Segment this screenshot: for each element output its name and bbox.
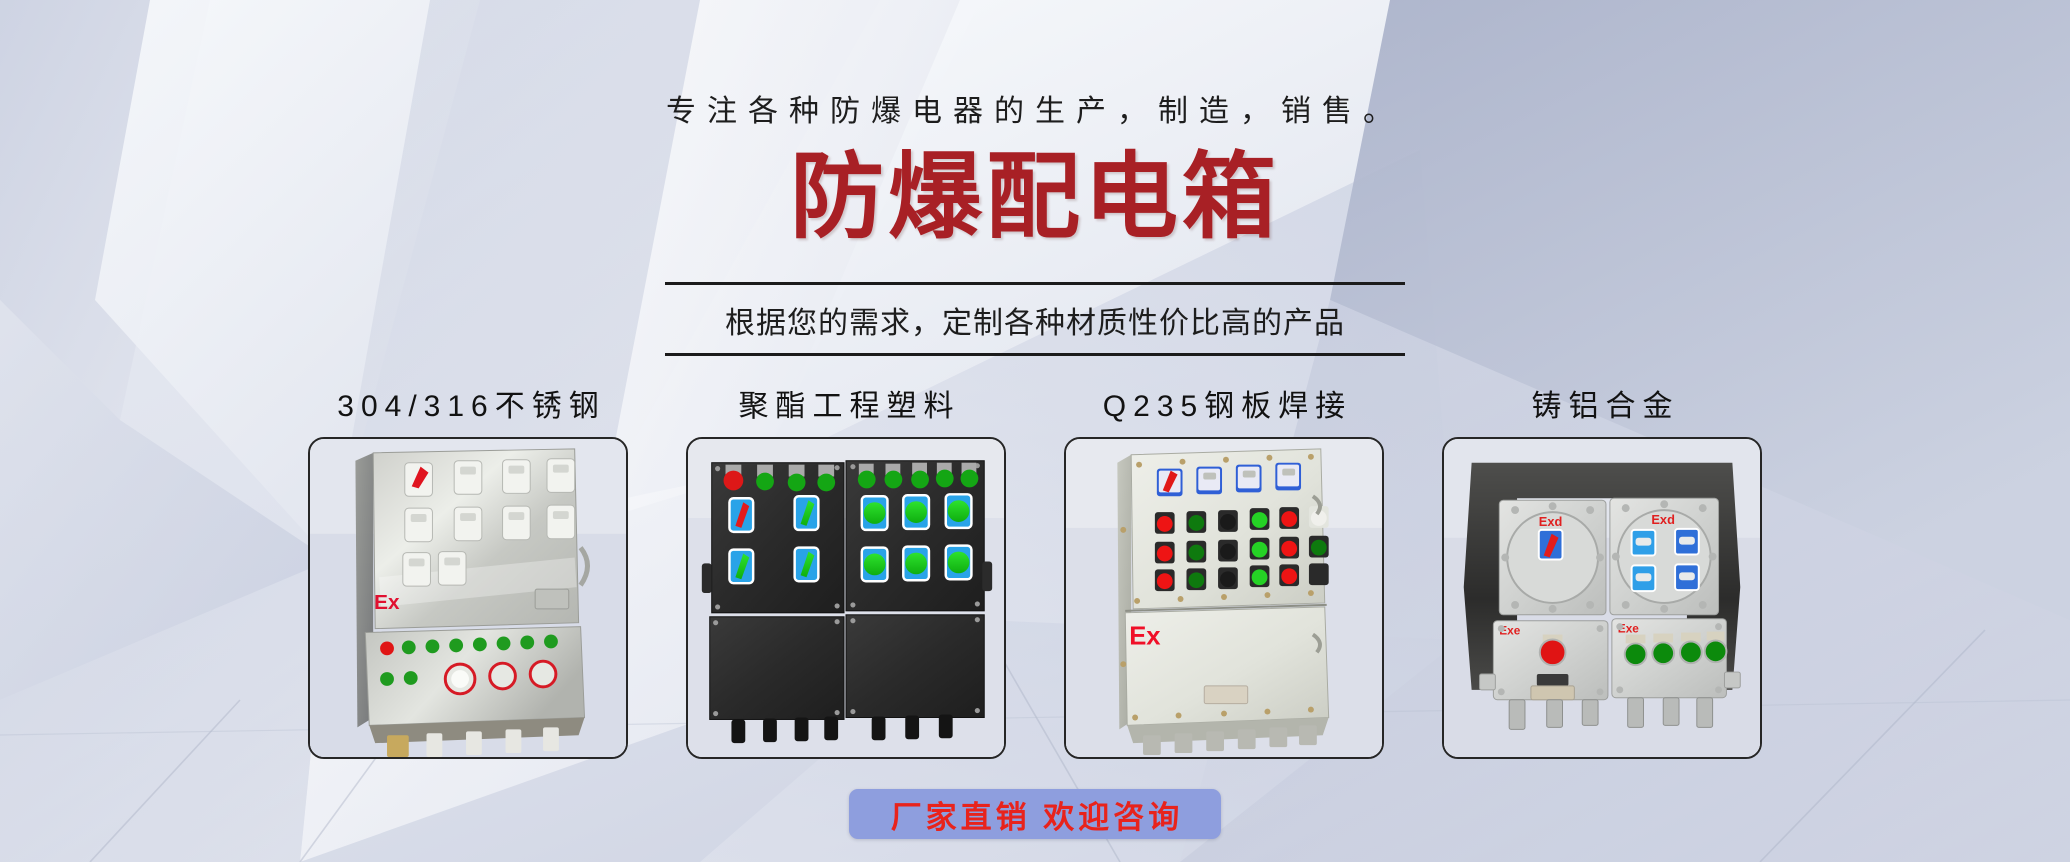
banner-subtitle: 根据您的需求，定制各种材质性价比高的产品 [665, 285, 1405, 353]
product-label-polyester-plastic: 聚酯工程塑料 [686, 381, 1006, 425]
product-card-stainless-steel[interactable]: 304/316不锈钢 [308, 381, 628, 759]
product-card-cast-aluminum[interactable]: 铸铝合金 [1442, 381, 1762, 759]
product-image-stainless-steel: Ex [308, 437, 628, 759]
product-card-q235-steel[interactable]: Q235钢板焊接 [1064, 381, 1384, 759]
promo-banner: 专注各种防爆电器的生产，制造，销售。 防爆配电箱 根据您的需求，定制各种材质性价… [0, 0, 2070, 862]
product-label-stainless-steel: 304/316不锈钢 [308, 381, 628, 425]
subtitle-rule-bottom [665, 353, 1405, 356]
banner-tagline: 专注各种防爆电器的生产，制造，销售。 [0, 86, 2070, 130]
product-image-q235-steel: Ex [1064, 437, 1384, 759]
product-image-cast-aluminum: Exd Exd [1442, 437, 1762, 759]
product-label-q235-steel: Q235钢板焊接 [1064, 381, 1384, 425]
product-card-row: 304/316不锈钢 [0, 381, 2070, 759]
svg-text:Ex: Ex [1129, 622, 1161, 650]
product-card-polyester-plastic[interactable]: 聚酯工程塑料 [686, 381, 1006, 759]
svg-text:Ex: Ex [374, 591, 400, 614]
svg-text:Exd: Exd [1651, 512, 1675, 527]
product-label-cast-aluminum: 铸铝合金 [1442, 381, 1762, 425]
svg-text:Exd: Exd [1539, 514, 1563, 529]
product-image-polyester-plastic [686, 437, 1006, 759]
page-title: 防爆配电箱 [0, 150, 2070, 244]
subtitle-block: 根据您的需求，定制各种材质性价比高的产品 [665, 282, 1405, 356]
cta-button-label: 厂家直销 欢迎咨询 [887, 792, 1184, 837]
cta-button[interactable]: 厂家直销 欢迎咨询 [849, 789, 1221, 839]
